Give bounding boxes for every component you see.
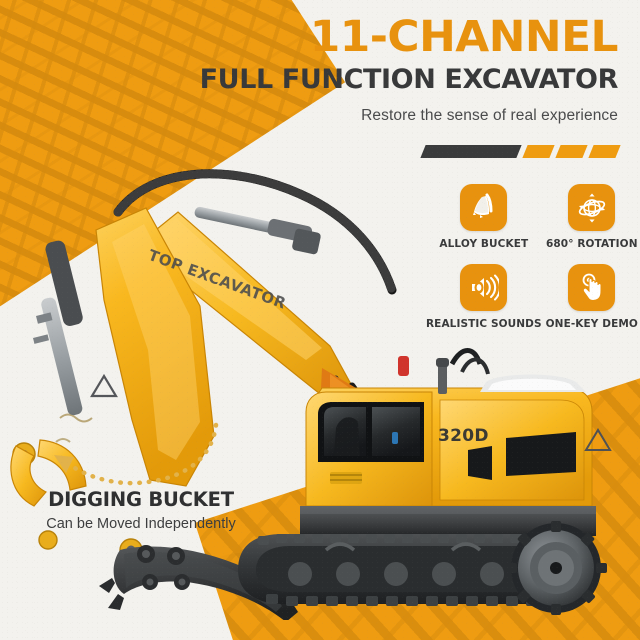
digging-bucket-callout: DIGGING BUCKET Can be Moved Independentl…: [26, 488, 256, 532]
excavator-bucket-icon: [460, 184, 507, 231]
rotation-globe-icon: [568, 184, 615, 231]
feature-one-key-demo: ONE-KEY DEMO: [546, 264, 638, 330]
model-number-decal: 320D: [438, 426, 489, 446]
feature-label: REALISTIC SOUNDS: [426, 318, 542, 330]
divider-bar-orange-2: [555, 145, 587, 158]
product-banner: TOP EXCAVATOR 320D 11-CHANNEL FULL FUNCT…: [0, 0, 640, 640]
divider-bar-dark: [420, 145, 521, 158]
headline-channel-count: 11-CHANNEL: [179, 16, 618, 60]
tagline: Restore the sense of real experience: [188, 107, 618, 125]
feature-alloy-bucket: ALLOY BUCKET: [426, 184, 542, 250]
feature-label: ONE-KEY DEMO: [546, 318, 638, 330]
feature-label: ALLOY BUCKET: [426, 238, 542, 250]
feature-label: 680° ROTATION: [546, 238, 638, 250]
feature-rotation: 680° ROTATION: [546, 184, 638, 250]
callout-subtitle: Can be Moved Independently: [26, 516, 256, 532]
hand-tap-icon: [568, 264, 615, 311]
callout-title: DIGGING BUCKET: [26, 488, 256, 511]
headline-product-type: FULL FUNCTION EXCAVATOR: [188, 66, 618, 94]
feature-list: ALLOY BUCKET 680° ROTATION: [426, 184, 622, 330]
divider-rule: [423, 145, 618, 158]
speaker-sound-icon: [460, 264, 507, 311]
header-block: 11-CHANNEL FULL FUNCTION EXCAVATOR Resto…: [188, 16, 618, 125]
divider-bar-orange-1: [522, 145, 554, 158]
divider-bar-orange-3: [588, 145, 620, 158]
feature-realistic-sounds: REALISTIC SOUNDS: [426, 264, 542, 330]
